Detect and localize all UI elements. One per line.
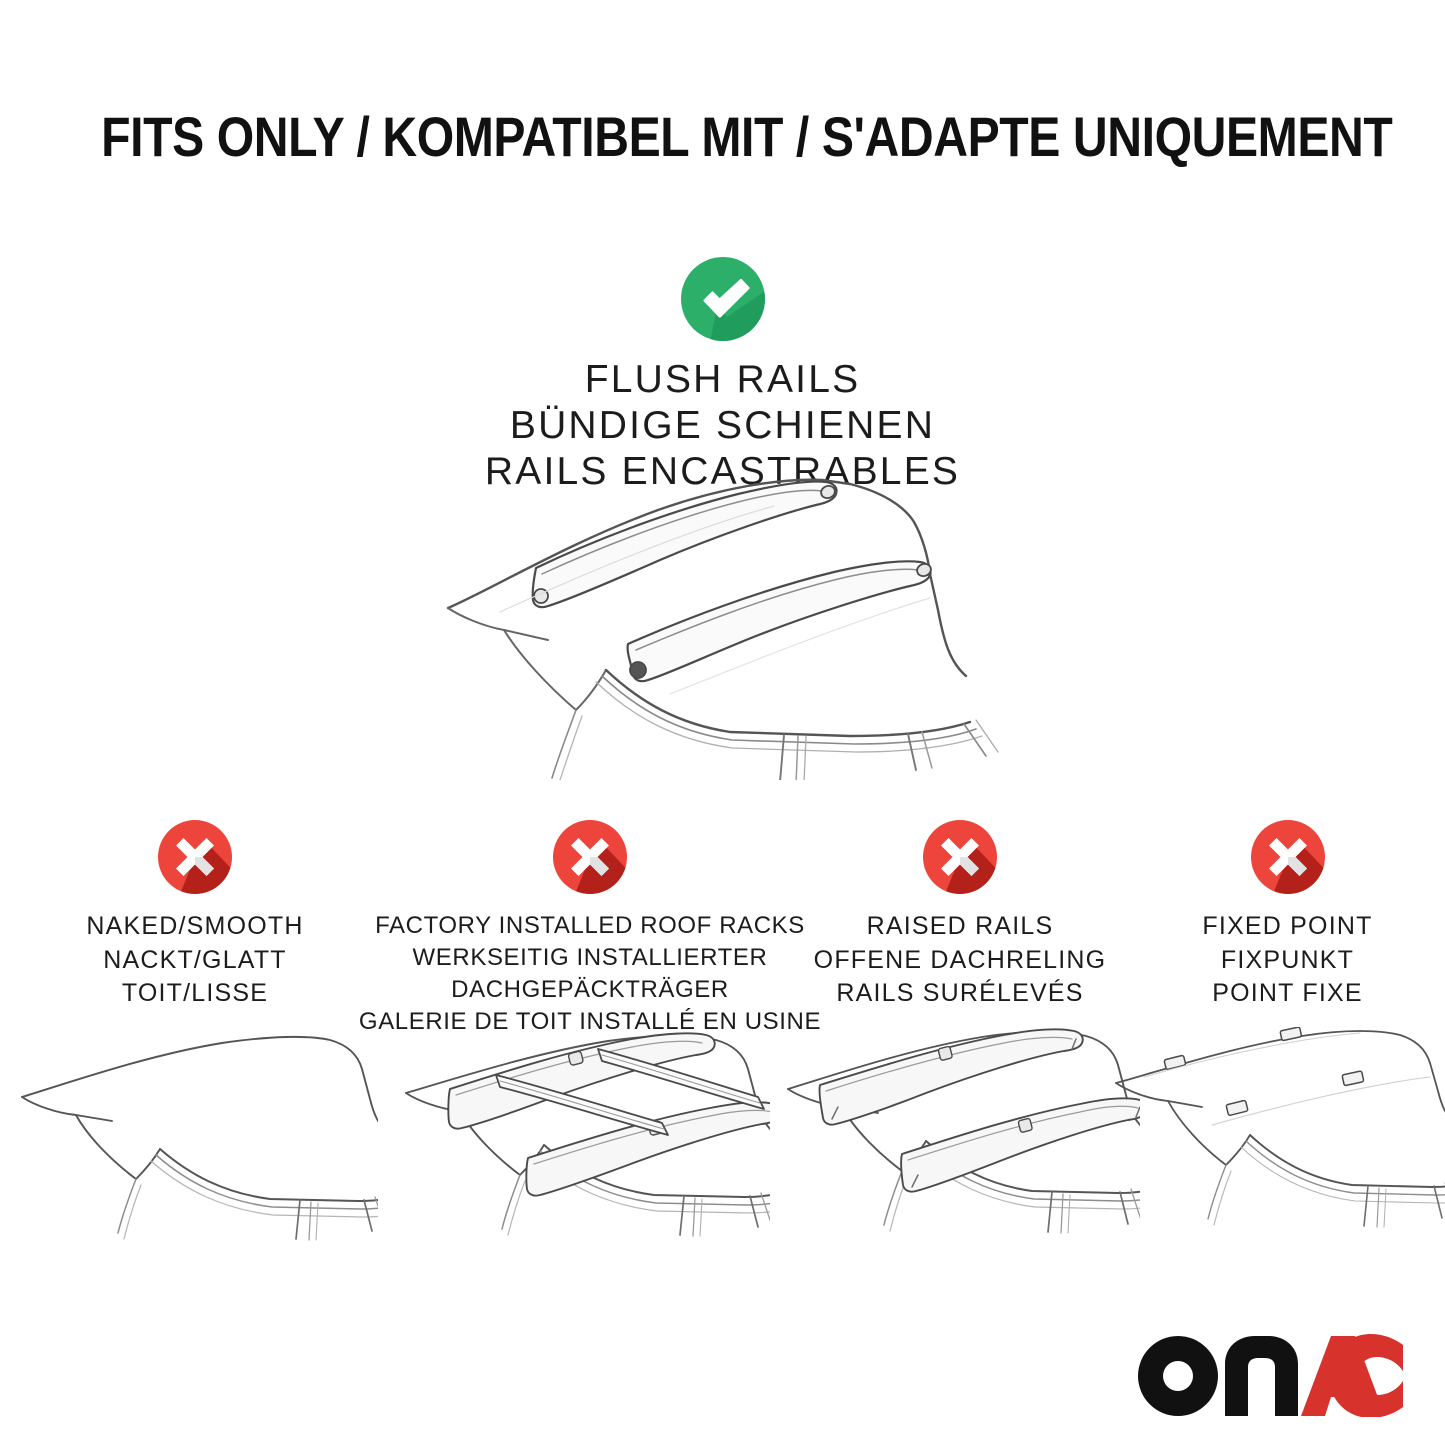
incompatible-item-naked-smooth: NAKED/SMOOTH NACKT/GLATT TOIT/LISSE (0, 818, 390, 1248)
x-circle-icon (156, 818, 234, 896)
car-roof-naked-illustration (8, 1027, 378, 1242)
label-de: OFFENE DACHRELING (814, 944, 1107, 978)
logo-letter-m (1225, 1336, 1298, 1416)
car-roof-fixed-point-illustration (1110, 1027, 1445, 1242)
label-en: FIXED POINT (1202, 910, 1372, 944)
incompatible-labels: FACTORY INSTALLED ROOF RACKS WERKSEITIG … (359, 910, 821, 1039)
x-circle-icon (551, 818, 629, 896)
compatible-section: FLUSH RAILS BÜNDIGE SCHIENEN RAILS ENCAS… (0, 255, 1445, 495)
incompatible-item-factory-roof-racks: FACTORY INSTALLED ROOF RACKS WERKSEITIG … (390, 818, 790, 1248)
compatible-label-en: FLUSH RAILS (0, 357, 1445, 403)
label-de: FIXPUNKT (1202, 944, 1372, 978)
x-circle-icon (1249, 818, 1327, 896)
header: FITS ONLY / KOMPATIBEL MIT / S'ADAPTE UN… (0, 104, 1445, 169)
incompatible-labels: RAISED RAILS OFFENE DACHRELING RAILS SUR… (814, 910, 1107, 1011)
incompatible-item-raised-rails: RAISED RAILS OFFENE DACHRELING RAILS SUR… (790, 818, 1130, 1248)
incompatible-item-fixed-point: FIXED POINT FIXPUNKT POINT FIXE (1130, 818, 1445, 1248)
label-en: NAKED/SMOOTH (86, 910, 303, 944)
label-en: RAISED RAILS (814, 910, 1107, 944)
compatible-label-de: BÜNDIGE SCHIENEN (0, 403, 1445, 449)
label-fr: POINT FIXE (1202, 977, 1372, 1011)
car-roof-flush-rails-illustration (430, 470, 1040, 780)
incompatible-section: NAKED/SMOOTH NACKT/GLATT TOIT/LISSE (0, 818, 1445, 1248)
x-circle-icon (921, 818, 999, 896)
omac-logo (1135, 1331, 1403, 1417)
label-en: FACTORY INSTALLED ROOF RACKS (359, 910, 821, 942)
label-de-2: DACHGEPÄCKTRÄGER (359, 974, 821, 1006)
check-circle-icon (679, 255, 767, 343)
page-title: FITS ONLY / KOMPATIBEL MIT / S'ADAPTE UN… (101, 104, 1344, 169)
car-roof-raised-rails-illustration (780, 1027, 1140, 1242)
label-de: NACKT/GLATT (86, 944, 303, 978)
label-de-1: WERKSEITIG INSTALLIERTER (359, 942, 821, 974)
label-fr: RAILS SURÉLEVÉS (814, 977, 1107, 1011)
car-roof-factory-racks-illustration (400, 1027, 770, 1242)
incompatible-labels: NAKED/SMOOTH NACKT/GLATT TOIT/LISSE (86, 910, 303, 1011)
incompatible-labels: FIXED POINT FIXPUNKT POINT FIXE (1202, 910, 1372, 1011)
logo-letter-o (1138, 1336, 1218, 1416)
label-fr: TOIT/LISSE (86, 977, 303, 1011)
product-compatibility-infographic: FITS ONLY / KOMPATIBEL MIT / S'ADAPTE UN… (0, 0, 1445, 1445)
